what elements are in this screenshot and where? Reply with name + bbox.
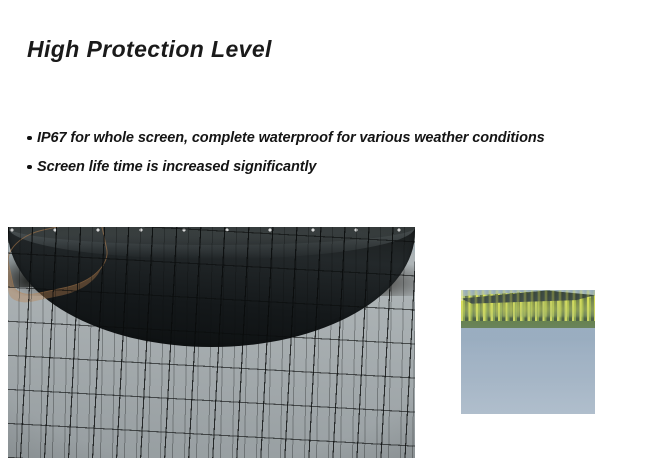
main-photo-glass-curtain-wall-led-screen	[8, 227, 415, 458]
inset-layer-reflection-fade	[461, 290, 595, 414]
list-item: IP67 for whole screen, complete waterpro…	[27, 130, 642, 146]
bullet-dot-icon	[27, 159, 37, 170]
bullet-text: Screen life time is increased significan…	[37, 159, 316, 175]
bullet-text: IP67 for whole screen, complete waterpro…	[37, 130, 545, 146]
list-item: Screen life time is increased significan…	[27, 159, 642, 175]
inset-photo-dusk-building-led-fins	[461, 290, 595, 414]
bullet-dot-icon	[27, 130, 37, 141]
photo-layer-vignette	[8, 227, 415, 458]
bullet-list: IP67 for whole screen, complete waterpro…	[27, 130, 642, 188]
page-title: High Protection Level	[27, 36, 272, 63]
